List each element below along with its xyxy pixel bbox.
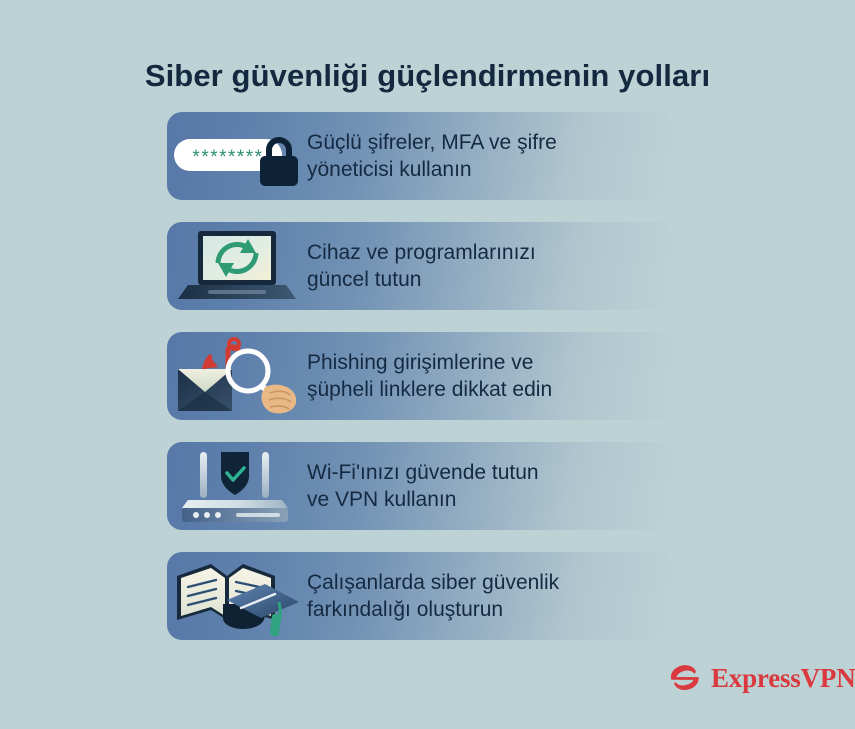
tip-text: Güçlü şifreler, MFA ve şifre yöneticisi … (307, 129, 565, 183)
laptop-svg (178, 227, 296, 305)
phishing-svg (170, 335, 304, 417)
expressvpn-logo-text: ExpressVPN (711, 665, 855, 692)
router-shield-icon (167, 442, 307, 530)
infographic-canvas: Siber güvenliği güçlendirmenin yolları *… (0, 0, 855, 729)
password-mask-text: ******** (192, 143, 263, 167)
page-title: Siber güvenliği güçlendirmenin yolları (0, 57, 855, 95)
tip-card-passwords[interactable]: ******** Güçlü şifreler, MFA ve şifre yö… (167, 112, 673, 200)
phishing-email-icon (167, 332, 307, 420)
book-graduation-icon (167, 552, 307, 640)
expressvpn-logo-mark-icon (668, 661, 702, 695)
tips-card-list: ******** Güçlü şifreler, MFA ve şifre yö… (167, 112, 673, 662)
tip-card-wifi[interactable]: Wi-Fi'ınızı güvende tutun ve VPN kullanı… (167, 442, 673, 530)
laptop-update-icon (167, 222, 307, 310)
tip-card-phishing[interactable]: Phishing girişimlerine ve şüpheli linkle… (167, 332, 673, 420)
tip-text: Phishing girişimlerine ve şüpheli linkle… (307, 349, 560, 403)
tip-text: Cihaz ve programlarınızı güncel tutun (307, 239, 544, 293)
tip-card-training[interactable]: Çalışanlarda siber güvenlik farkındalığı… (167, 552, 673, 640)
router-svg (174, 446, 300, 526)
padlock-icon (256, 135, 302, 187)
book-cap-svg (171, 554, 303, 638)
tip-text: Çalışanlarda siber güvenlik farkındalığı… (307, 569, 567, 623)
tip-card-updates[interactable]: Cihaz ve programlarınızı güncel tutun (167, 222, 673, 310)
expressvpn-logo[interactable]: ExpressVPN (668, 661, 855, 695)
tip-text: Wi-Fi'ınızı güvende tutun ve VPN kullanı… (307, 459, 547, 513)
password-lock-icon: ******** (167, 112, 307, 200)
